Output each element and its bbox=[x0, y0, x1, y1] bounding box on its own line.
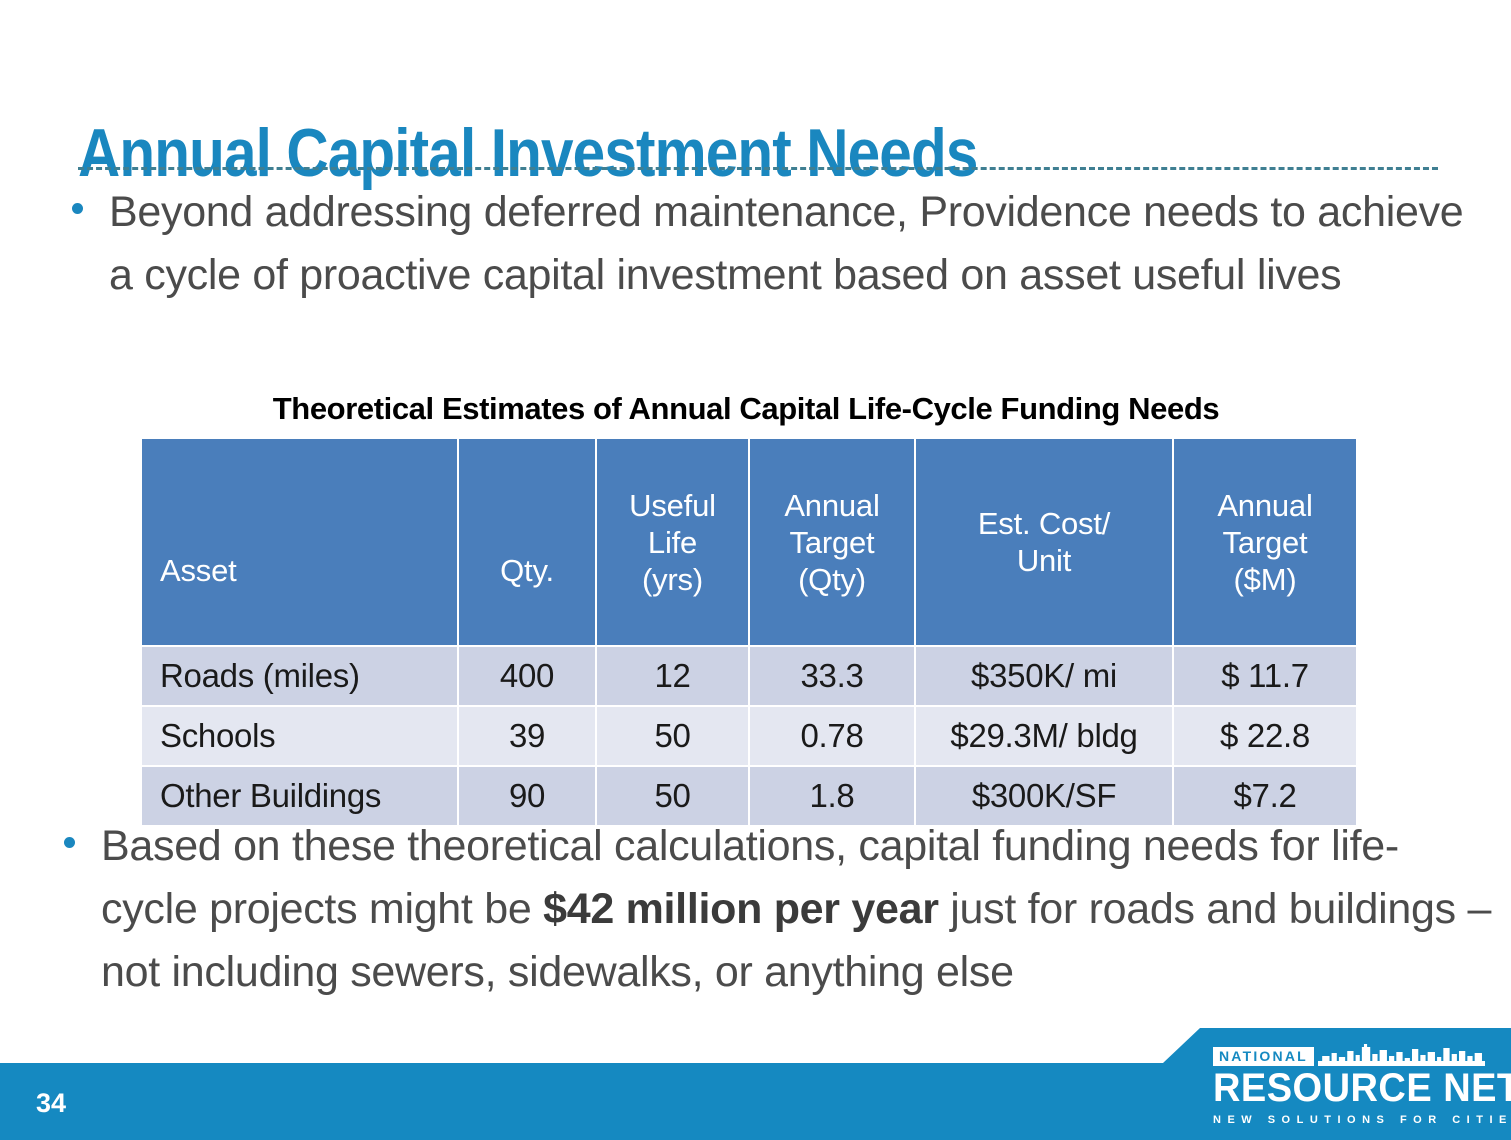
column-header-est-cost-unit-line1: Est. Cost/ bbox=[920, 505, 1168, 542]
cell-qty: 39 bbox=[459, 707, 595, 765]
bullet-dot-icon bbox=[72, 203, 83, 214]
city-skyline-svg bbox=[1318, 1044, 1485, 1066]
cell-qty: 400 bbox=[459, 647, 595, 705]
table-caption: Theoretical Estimates of Annual Capital … bbox=[140, 390, 1352, 428]
page-number: 34 bbox=[36, 1088, 66, 1119]
column-header-asset: Asset bbox=[142, 439, 457, 645]
bullet-dot-icon bbox=[64, 837, 75, 848]
column-header-annual-target-qty-line3: (Qty) bbox=[754, 561, 910, 598]
page-title: Annual Capital Investment Needs bbox=[78, 114, 1265, 192]
table-header-row: Asset Qty. Useful Life (yrs) Annual Targ… bbox=[142, 439, 1356, 645]
cell-est-cost-unit: $29.3M/ bldg bbox=[916, 707, 1172, 765]
column-header-annual-target-m-line3: ($M) bbox=[1178, 561, 1352, 598]
cell-est-cost-unit: $350K/ mi bbox=[916, 647, 1172, 705]
city-skyline-icon bbox=[1318, 1044, 1485, 1066]
column-header-qty: Qty. bbox=[459, 439, 595, 645]
column-header-annual-target-qty-line2: Target bbox=[754, 524, 910, 561]
table-row: Schools 39 50 0.78 $29.3M/ bldg $ 22.8 bbox=[142, 707, 1356, 765]
logo-main-text: RESOURCE NETWORK bbox=[1213, 1068, 1471, 1108]
bullet-item-2: Based on these theoretical calculations,… bbox=[64, 815, 1494, 1004]
bullet-1-text: Beyond addressing deferred maintenance, … bbox=[109, 181, 1472, 307]
cell-annual-target-m: $ 11.7 bbox=[1174, 647, 1356, 705]
slide-canvas: Annual Capital Investment Needs Beyond a… bbox=[0, 0, 1511, 1140]
cell-annual-target-m: $ 22.8 bbox=[1174, 707, 1356, 765]
column-header-annual-target-qty-line1: Annual bbox=[754, 487, 910, 524]
bullet-2-emphasis: $42 million per year bbox=[543, 885, 939, 933]
column-header-est-cost-unit-line2: Unit bbox=[920, 542, 1168, 579]
cell-asset: Schools bbox=[142, 707, 457, 765]
cell-annual-target-qty: 33.3 bbox=[750, 647, 914, 705]
capital-needs-table: Asset Qty. Useful Life (yrs) Annual Targ… bbox=[140, 437, 1358, 827]
column-header-est-cost-unit: Est. Cost/ Unit bbox=[916, 439, 1172, 645]
logo-national-text: NATIONAL bbox=[1213, 1047, 1314, 1066]
bullet-2-text: Based on these theoretical calculations,… bbox=[101, 815, 1494, 1004]
cell-asset: Roads (miles) bbox=[142, 647, 457, 705]
column-header-annual-target-m-line1: Annual bbox=[1178, 487, 1352, 524]
column-header-useful-life-line1: Useful bbox=[601, 487, 744, 524]
column-header-useful-life: Useful Life (yrs) bbox=[597, 439, 748, 645]
national-resource-network-logo: NATIONAL bbox=[1213, 1043, 1485, 1121]
column-header-annual-target-m: Annual Target ($M) bbox=[1174, 439, 1356, 645]
cell-annual-target-qty: 0.78 bbox=[750, 707, 914, 765]
column-header-useful-life-line3: (yrs) bbox=[601, 561, 744, 598]
column-header-annual-target-m-line2: Target bbox=[1178, 524, 1352, 561]
cell-useful-life: 50 bbox=[597, 707, 748, 765]
bullet-item-1: Beyond addressing deferred maintenance, … bbox=[72, 181, 1472, 307]
column-header-annual-target-qty: Annual Target (Qty) bbox=[750, 439, 914, 645]
table-row: Roads (miles) 400 12 33.3 $350K/ mi $ 11… bbox=[142, 647, 1356, 705]
cell-useful-life: 12 bbox=[597, 647, 748, 705]
title-divider bbox=[78, 167, 1438, 170]
logo-top-row: NATIONAL bbox=[1213, 1043, 1485, 1066]
column-header-useful-life-line2: Life bbox=[601, 524, 744, 561]
logo-tagline-text: NEW SOLUTIONS FOR CITIES bbox=[1213, 1114, 1485, 1126]
